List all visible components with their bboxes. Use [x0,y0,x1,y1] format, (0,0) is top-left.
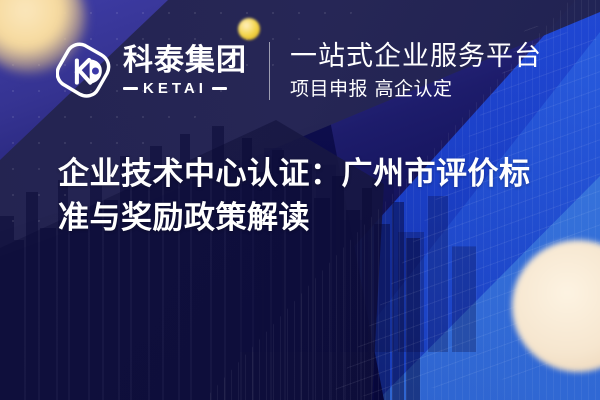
brand-logo[interactable]: 科泰集团 KETAI [56,42,247,100]
promo-banner: 科泰集团 KETAI 一站式企业服务平台 项目申报 高企认定 企业技术中心认证：… [0,0,600,400]
tagline-block: 一站式企业服务平台 项目申报 高企认定 [290,42,542,100]
ketai-diamond-kt-logo-icon [56,42,114,100]
brand-name-en-row: KETAI [123,81,247,96]
headline-line-1: 企业技术中心认证：广州市评价标 [58,152,558,196]
headline: 企业技术中心认证：广州市评价标 准与奖励政策解读 [58,152,558,240]
brand-wordmark: 科泰集团 KETAI [123,46,247,96]
wordmark-rule-right [212,87,227,90]
brand-name-en: KETAI [143,81,207,96]
banner-header: 科泰集团 KETAI 一站式企业服务平台 项目申报 高企认定 [56,42,542,100]
tagline-sub: 项目申报 高企认定 [290,78,542,101]
brand-name-cn: 科泰集团 [123,46,247,76]
header-divider [269,42,270,100]
headline-line-2: 准与奖励政策解读 [58,196,558,240]
tagline-main: 一站式企业服务平台 [290,42,542,72]
wordmark-rule-left [123,87,138,90]
